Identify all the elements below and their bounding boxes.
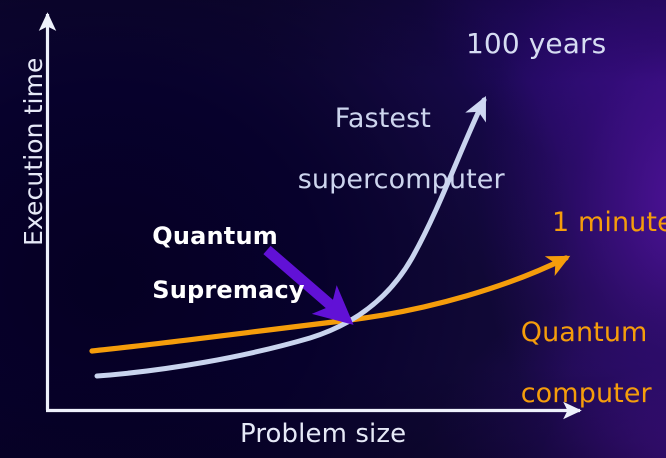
- label-fastest-supercomputer: Fastest supercomputer: [263, 74, 468, 225]
- label-quantum-computer: Quantum computer: [486, 288, 612, 439]
- label-fastest-line1: Fastest: [335, 103, 431, 134]
- label-quantum-line2: computer: [521, 378, 652, 409]
- label-100-years: 100 years: [466, 28, 606, 59]
- label-quantum-supremacy: Quantum Supremacy: [118, 196, 268, 330]
- label-supremacy-line1: Quantum: [152, 222, 278, 250]
- label-fastest-line2: supercomputer: [298, 164, 505, 195]
- label-supremacy-line2: Supremacy: [152, 276, 305, 304]
- x-axis-title: Problem size: [240, 420, 400, 449]
- label-quantum-line1: Quantum: [521, 317, 648, 348]
- quantum-supremacy-chart: 100 years Fastest supercomputer Quantum …: [0, 0, 666, 458]
- y-axis-title: Execution time: [20, 66, 48, 246]
- label-1-minute: 1 minute: [552, 208, 666, 238]
